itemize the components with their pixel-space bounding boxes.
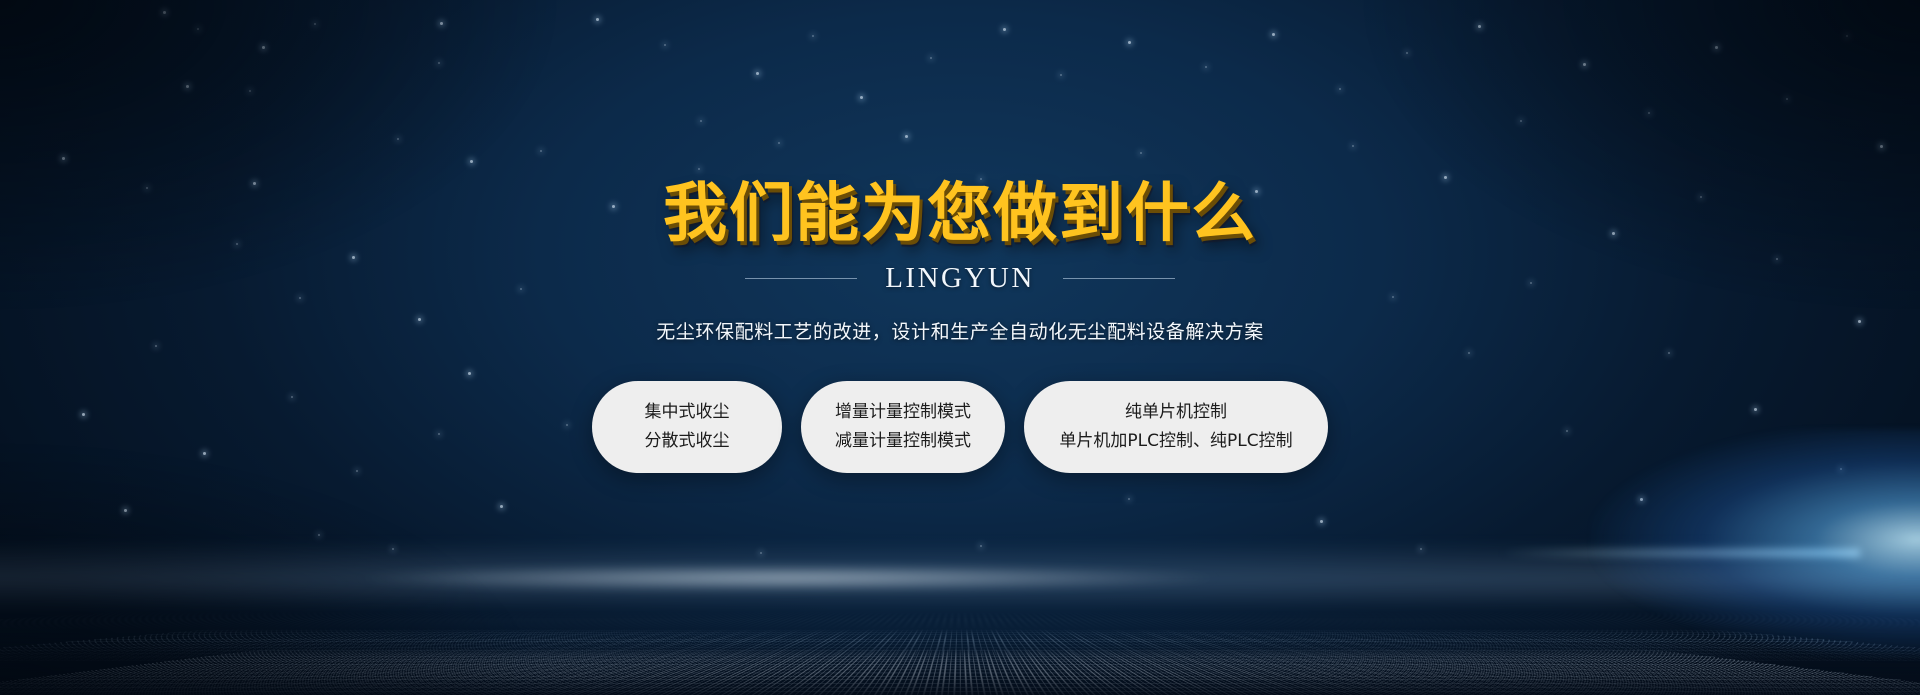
hero-banner: 我们能为您做到什么 LINGYUN 无尘环保配料工艺的改进，设计和生产全自动化无… xyxy=(0,0,1920,695)
page-title: 我们能为您做到什么 xyxy=(0,0,1920,246)
feature-card-list: 集中式收尘 分散式收尘 增量计量控制模式 减量计量控制模式 纯单片机控制 单片机… xyxy=(0,381,1920,473)
wave-crest-highlight xyxy=(346,565,1229,591)
feature-card-control-system[interactable]: 纯单片机控制 单片机加PLC控制、纯PLC控制 xyxy=(1024,381,1328,473)
divider-line-left xyxy=(745,278,857,279)
page-subtitle: 无尘环保配料工艺的改进，设计和生产全自动化无尘配料设备解决方案 xyxy=(0,317,1920,344)
feature-card-line-2: 分散式收尘 xyxy=(645,427,730,456)
feature-card-line-1: 增量计量控制模式 xyxy=(835,398,971,427)
feature-card-line-1: 集中式收尘 xyxy=(645,398,730,427)
feature-card-metering-mode[interactable]: 增量计量控制模式 减量计量控制模式 xyxy=(801,381,1005,473)
feature-card-dust-collection[interactable]: 集中式收尘 分散式收尘 xyxy=(592,381,782,473)
feature-card-line-1: 纯单片机控制 xyxy=(1125,398,1227,427)
feature-card-line-2: 减量计量控制模式 xyxy=(835,427,971,456)
brand-name: LINGYUN xyxy=(885,262,1035,295)
brand-eyebrow-row: LINGYUN xyxy=(0,262,1920,295)
banner-content: 我们能为您做到什么 LINGYUN 无尘环保配料工艺的改进，设计和生产全自动化无… xyxy=(0,0,1920,473)
divider-line-right xyxy=(1063,278,1175,279)
wave-bottom-fade xyxy=(0,633,1920,695)
digital-wave-decoration xyxy=(0,480,1920,695)
feature-card-line-2: 单片机加PLC控制、纯PLC控制 xyxy=(1059,427,1292,456)
wave-mesh-far xyxy=(0,612,1920,629)
